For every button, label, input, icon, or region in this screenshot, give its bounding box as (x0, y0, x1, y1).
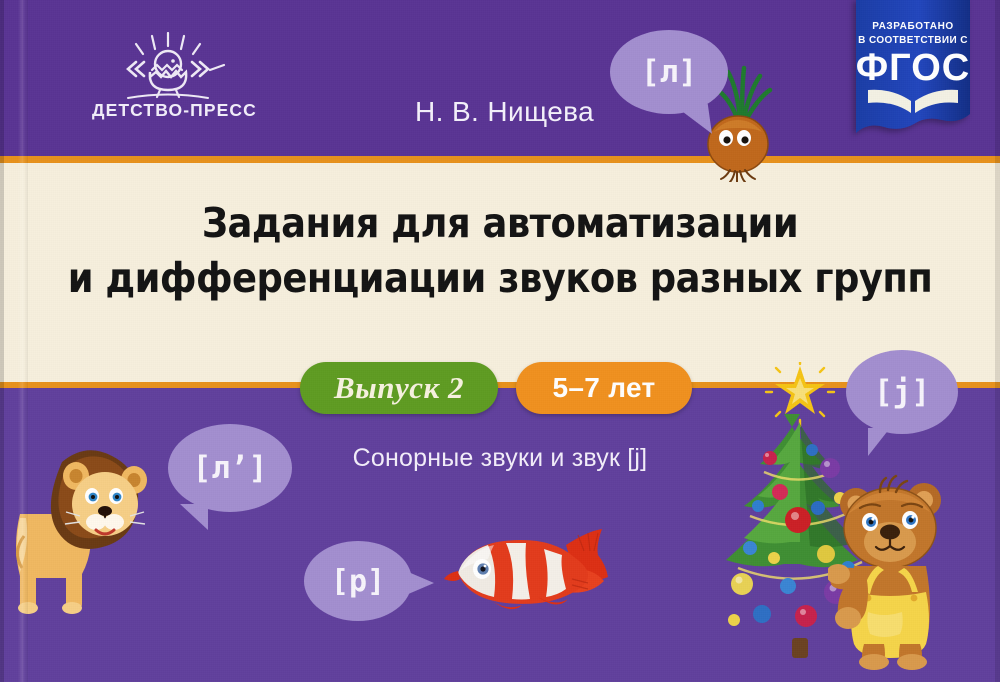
speech-bubble-l-text: [л] (641, 54, 697, 90)
publisher-name: ДЕТСТВО-ПРЕСС (92, 100, 244, 121)
speech-bubble-l: [л] (610, 30, 728, 114)
book-cover: ДЕТСТВО-ПРЕСС Н. В. Нищева РАЗРАБОТАНО В… (0, 0, 1000, 682)
speech-bubble-r-text: [р] (331, 564, 385, 599)
title-line-2: и дифференциации звуков разных групп (50, 251, 950, 306)
fgos-acronym: ФГОС (856, 47, 970, 89)
speech-bubble-j-text: [j] (874, 374, 930, 410)
speech-bubble-r: [р] (304, 541, 412, 621)
speech-bubble-tail (678, 104, 712, 138)
speech-bubble-l-soft-text: [л’] (193, 450, 268, 486)
age-badge: 5–7 лет (516, 362, 692, 414)
fgos-line1: РАЗРАБОТАНО (872, 21, 954, 32)
speech-bubble-tail (180, 504, 208, 530)
speech-bubble-tail (868, 428, 890, 456)
speech-bubble-j: [j] (846, 350, 958, 434)
hatching-chick-icon (92, 32, 244, 104)
page-title: Задания для автоматизации и дифференциац… (50, 196, 950, 305)
speech-bubble-tail (406, 571, 434, 595)
bear-icon (828, 470, 964, 670)
publisher-logo: ДЕТСТВО-ПРЕСС (92, 32, 244, 121)
fish-icon (440, 527, 608, 619)
fgos-line2: В СООТВЕТСТВИИ С (858, 35, 968, 46)
lion-icon (10, 418, 174, 616)
fgos-badge: РАЗРАБОТАНО В СООТВЕТСТВИИ С ФГОС (848, 0, 978, 140)
author-name: Н. В. Нищева (415, 96, 594, 128)
issue-badge: Выпуск 2 (300, 362, 498, 414)
speech-bubble-l-soft: [л’] (168, 424, 292, 512)
title-line-1: Задания для автоматизации (50, 196, 950, 251)
